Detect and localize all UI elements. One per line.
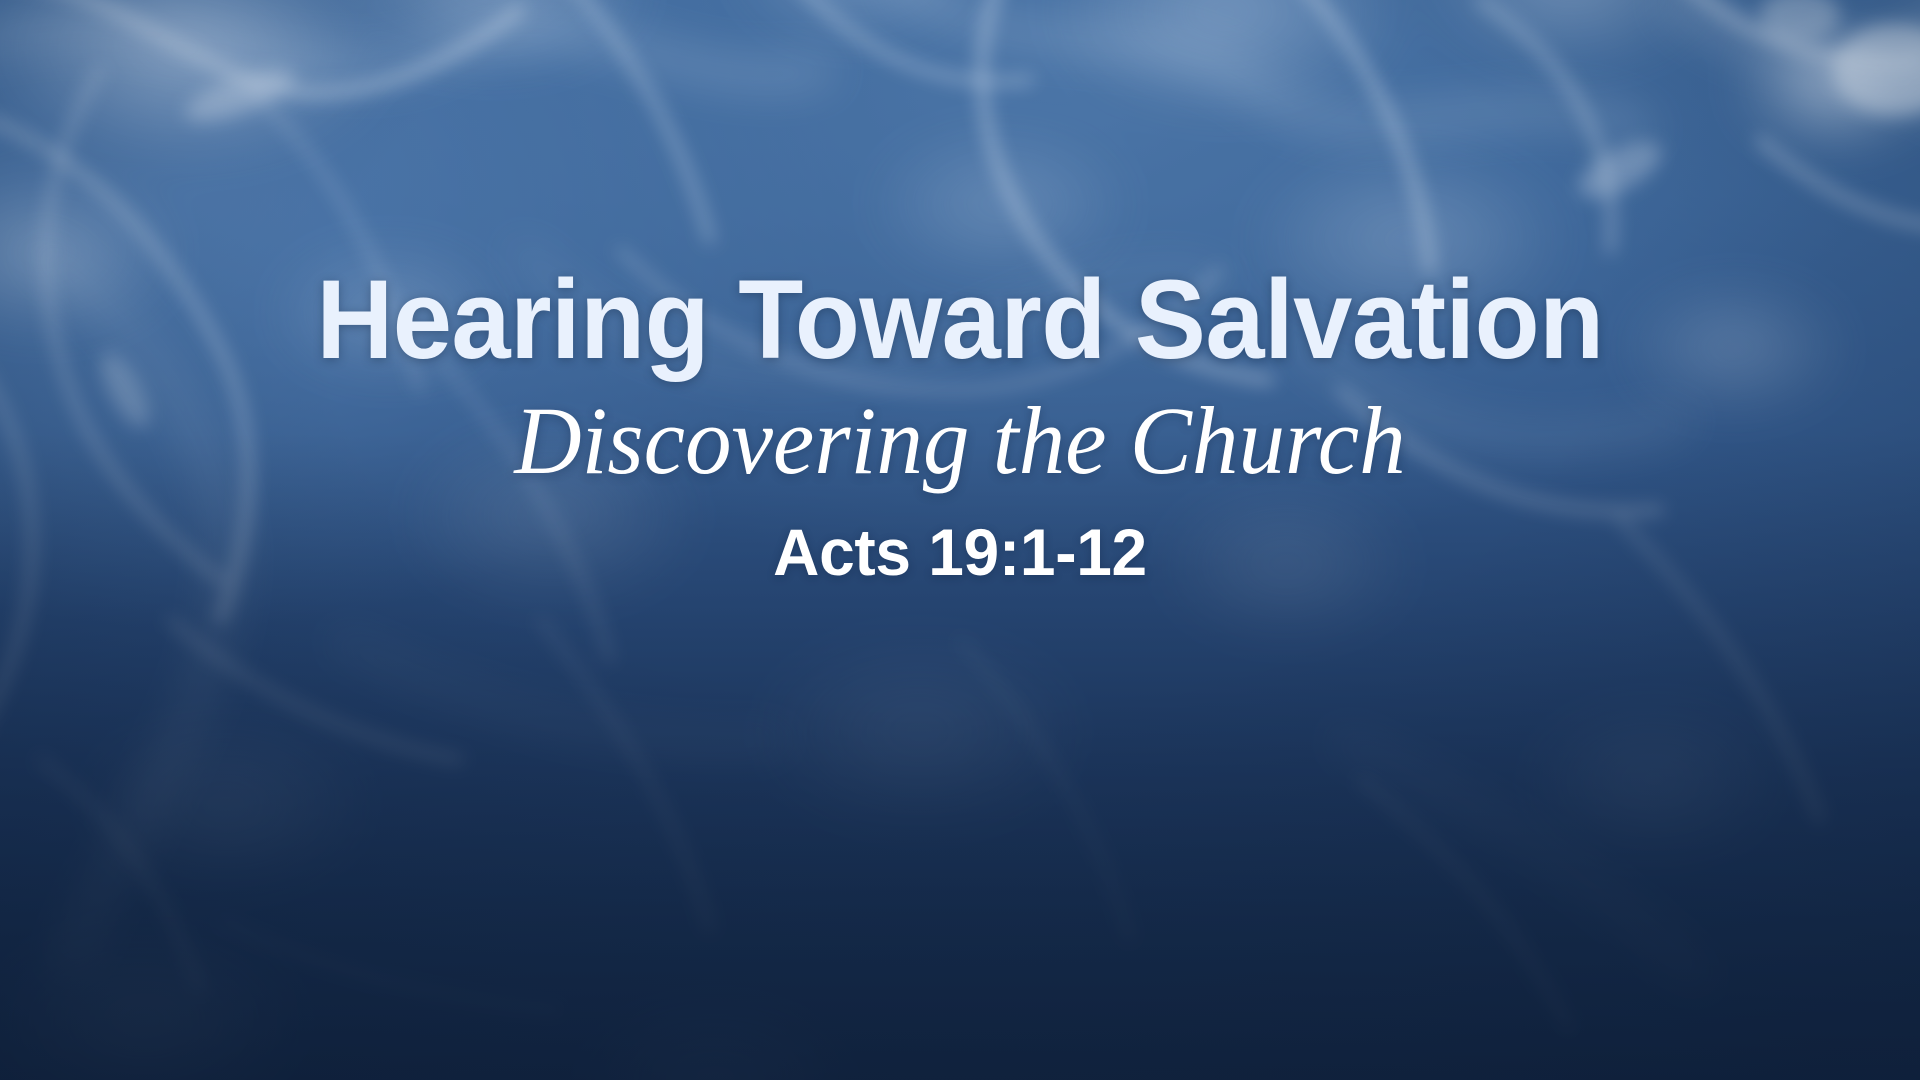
slide-text-block: Hearing Toward Salvation Discovering the… <box>0 262 1920 588</box>
slide-subtitle: Discovering the Church <box>29 390 1891 492</box>
page-title: Hearing Toward Salvation <box>48 262 1872 378</box>
title-slide: Hearing Toward Salvation Discovering the… <box>0 0 1920 1080</box>
scripture-reference: Acts 19:1-12 <box>29 518 1891 587</box>
